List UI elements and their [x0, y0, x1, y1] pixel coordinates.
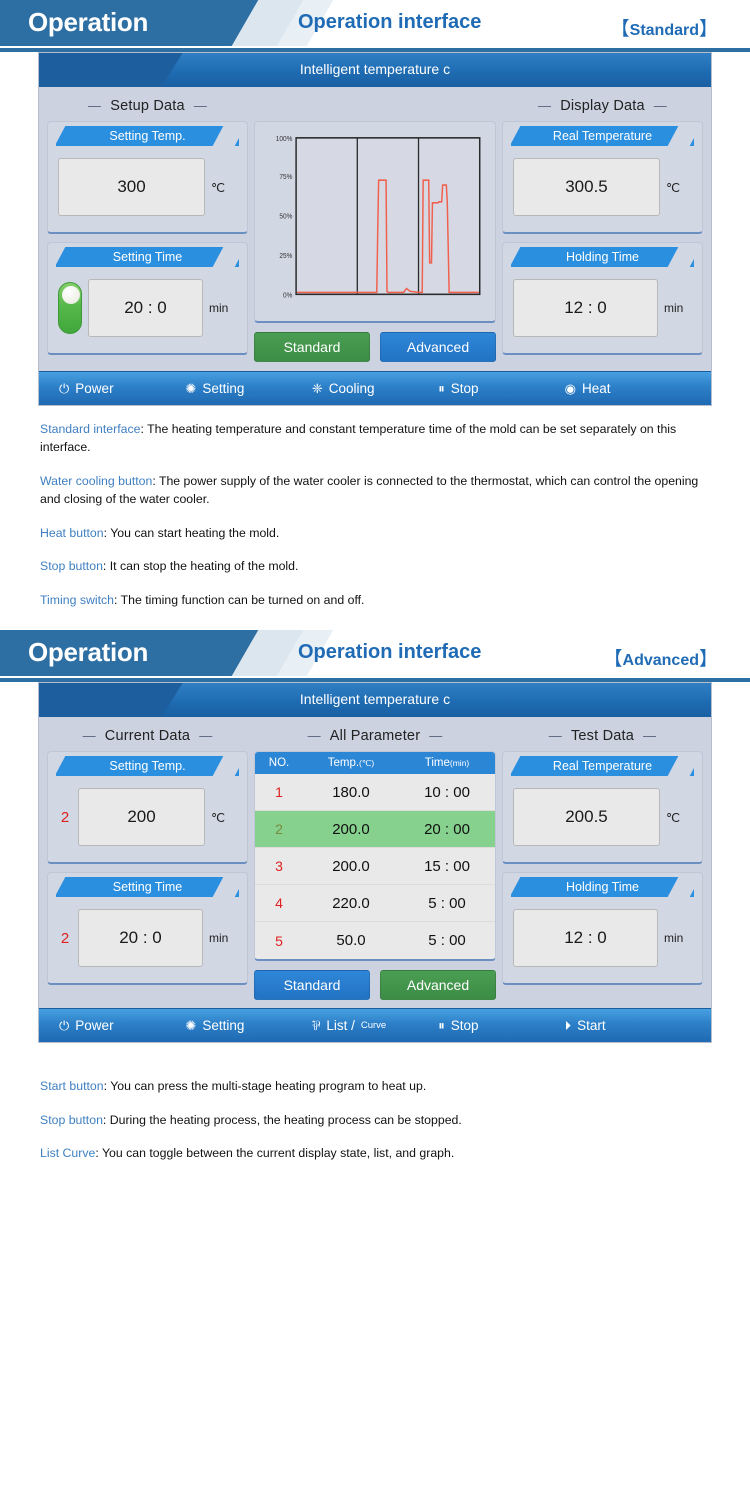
chart-svg: 100% 75% 50% 25% 0% — [259, 128, 489, 315]
real-temperature-label: Real Temperature — [511, 756, 694, 776]
setting-temp-row: 300 ℃ — [48, 146, 247, 220]
display-data-label: Display Data — [560, 98, 645, 114]
holding-time-value: 12 : 0 — [513, 909, 658, 967]
description-key: Stop button — [40, 1113, 103, 1127]
description-item: Standard interface: The heating temperat… — [40, 420, 710, 457]
dash-right: — — [645, 98, 676, 113]
description-key: List Curve — [40, 1146, 95, 1160]
table-row[interactable]: 4 220.0 5 : 00 — [255, 885, 495, 922]
setup-data-label: Setup Data — [110, 98, 185, 114]
setting-time-ribbon: Setting Time — [56, 877, 239, 897]
description-key: Timing switch — [40, 593, 114, 607]
all-parameter-heading: —All Parameter— — [254, 723, 496, 751]
power-icon: ⏻ — [59, 1019, 69, 1032]
description-item: Stop button: It can stop the heating of … — [40, 557, 710, 575]
toolbar-setting-label: Setting — [202, 381, 244, 396]
setting-time-label: Setting Time — [56, 247, 239, 267]
svg-text:25%: 25% — [279, 253, 292, 260]
row-temp: 200.0 — [303, 821, 399, 838]
descriptions-standard: Standard interface: The heating temperat… — [0, 406, 750, 630]
gear-icon: ✺ — [185, 382, 196, 395]
mode-button-row: Standard Advanced — [254, 323, 496, 362]
description-text: : During the heating process, the heatin… — [103, 1113, 462, 1127]
setting-time-row: 20 : 0 min — [48, 267, 247, 341]
setting-time-unit: min — [209, 931, 237, 945]
display-data-heading: —Display Data— — [502, 93, 703, 121]
dash-right: — — [190, 728, 221, 743]
holding-time-unit: min — [664, 301, 692, 315]
descriptions-advanced: Start button: You can press the multi-st… — [0, 1063, 750, 1183]
dash-left: — — [74, 728, 105, 743]
holding-time-card: Holding Time 12 : 0 min — [502, 242, 703, 355]
row-temp: 200.0 — [303, 858, 399, 875]
setting-temp-ribbon: Setting Temp. — [56, 126, 239, 146]
row-no: 3 — [255, 858, 303, 874]
device-toolbar-advanced: ⏻ Power ✺ Setting ⅌ List / Curve ⏸ Stop … — [39, 1008, 711, 1042]
setting-time-ribbon: Setting Time — [56, 247, 239, 267]
test-data-label: Test Data — [571, 728, 634, 744]
all-parameter-label: All Parameter — [330, 728, 420, 744]
banner-word: Operation — [28, 637, 148, 668]
toolbar-cooling-label: Cooling — [329, 381, 375, 396]
current-data-label: Current Data — [105, 728, 190, 744]
holding-time-row: 12 : 0 min — [503, 267, 702, 341]
chart-column: 100% 75% 50% 25% 0% — [254, 93, 496, 363]
setup-data-column: —Setup Data— Setting Temp. 300 ℃ Setting… — [47, 93, 248, 363]
description-key: Start button — [40, 1079, 104, 1093]
standard-mode-button[interactable]: Standard — [254, 332, 370, 362]
row-time: 5 : 00 — [399, 932, 495, 949]
table-row[interactable]: 3 200.0 15 : 00 — [255, 848, 495, 885]
device-title: Intelligent temperature c — [39, 691, 711, 707]
real-temperature-ribbon: Real Temperature — [511, 126, 694, 146]
toolbar-power-button[interactable]: ⏻ Power — [59, 1018, 185, 1033]
real-temperature-value: 200.5 — [513, 788, 660, 846]
column-header-temp: Temp.(℃) — [303, 757, 399, 769]
device-panel-standard: Intelligent temperature c —Setup Data— S… — [38, 52, 712, 406]
section-banner-standard: Operation Operation interface 【Standard】 — [0, 0, 750, 52]
toolbar-heat-label: Heat — [582, 381, 611, 396]
column-header-temp-text: Temp. — [328, 757, 359, 769]
setup-data-heading: —Setup Data— — [47, 93, 248, 121]
real-temperature-row: 300.5 ℃ — [503, 146, 702, 220]
svg-text:75%: 75% — [279, 174, 292, 181]
mode-tag: 【Standard】 — [611, 14, 718, 41]
toolbar-curve-label: Curve — [361, 1020, 386, 1031]
setting-temp-unit: ℃ — [211, 180, 237, 195]
device-title: Intelligent temperature c — [39, 61, 711, 77]
gear-icon: ✺ — [185, 1019, 196, 1032]
temperature-chart: 100% 75% 50% 25% 0% — [254, 121, 496, 323]
holding-time-label: Holding Time — [511, 247, 694, 267]
mode-tag-label: Standard — [630, 22, 699, 39]
column-header-no: NO. — [255, 757, 303, 769]
table-row[interactable]: 5 50.0 5 : 00 — [255, 922, 495, 959]
device-panel-advanced: Intelligent temperature c —Current Data—… — [38, 682, 712, 1043]
row-temp: 180.0 — [303, 784, 399, 801]
mode-tag: 【Advanced】 — [604, 644, 719, 671]
description-item: Heat button: You can start heating the m… — [40, 524, 710, 542]
toolbar-start-label: Start — [577, 1018, 606, 1033]
setting-time-card: Setting Time 2 20 : 0 min — [47, 872, 248, 985]
description-text: : You can start heating the mold. — [104, 526, 280, 540]
bracket-left: 【 — [604, 649, 623, 670]
row-time: 10 : 00 — [399, 784, 495, 801]
chart-y-axis-labels: 100% 75% 50% 25% 0% — [276, 136, 293, 300]
real-temperature-unit: ℃ — [666, 810, 692, 825]
setting-temp-stage-index: 2 — [58, 809, 72, 826]
chart-spacer-heading — [254, 93, 496, 121]
row-time: 20 : 00 — [399, 821, 495, 838]
holding-time-row: 12 : 0 min — [503, 897, 702, 971]
heat-icon: ◉ — [565, 382, 576, 395]
device-body: —Current Data— Setting Temp. 2 200 ℃ Set… — [39, 717, 711, 1008]
row-temp: 220.0 — [303, 895, 399, 912]
toolbar-heat-button[interactable]: ◉ Heat — [565, 381, 691, 396]
real-temperature-ribbon: Real Temperature — [511, 756, 694, 776]
current-data-column: —Current Data— Setting Temp. 2 200 ℃ Set… — [47, 723, 248, 1000]
description-key: Heat button — [40, 526, 104, 540]
holding-time-label: Holding Time — [511, 877, 694, 897]
toolbar-power-button[interactable]: ⏻ Power — [59, 381, 185, 396]
spacer — [0, 1043, 750, 1063]
mode-tag-label: Advanced — [623, 652, 699, 669]
row-no: 5 — [255, 933, 303, 949]
description-item: Timing switch: The timing function can b… — [40, 591, 710, 609]
description-item: Stop button: During the heating process,… — [40, 1111, 710, 1129]
table-row[interactable]: 1 180.0 10 : 00 — [255, 774, 495, 811]
toolbar-stop-label: Stop — [451, 1018, 479, 1033]
device-titlebar: Intelligent temperature c — [39, 53, 711, 87]
toolbar-stop-label: Stop — [451, 381, 479, 396]
row-no: 1 — [255, 784, 303, 800]
real-temperature-label: Real Temperature — [511, 126, 694, 146]
description-key: Standard interface — [40, 422, 141, 436]
stop-icon: ⏸ — [438, 382, 445, 395]
row-time: 5 : 00 — [399, 895, 495, 912]
power-icon: ⏻ — [59, 382, 69, 395]
toolbar-power-label: Power — [75, 1018, 113, 1033]
setting-temp-label: Setting Temp. — [56, 126, 239, 146]
holding-time-card: Holding Time 12 : 0 min — [502, 872, 703, 985]
setting-temp-value[interactable]: 200 — [78, 788, 205, 846]
dash-right: — — [634, 728, 665, 743]
banner-word: Operation — [28, 7, 148, 38]
description-key: Stop button — [40, 559, 103, 573]
real-temperature-value: 300.5 — [513, 158, 660, 216]
bracket-right: 】 — [699, 19, 718, 40]
real-temperature-unit: ℃ — [666, 180, 692, 195]
toolbar-cooling-button[interactable]: ❈ Cooling — [312, 381, 438, 396]
setting-temp-row: 2 200 ℃ — [48, 776, 247, 850]
test-data-heading: —Test Data— — [502, 723, 703, 751]
setting-temp-label: Setting Temp. — [56, 756, 239, 776]
svg-text:0%: 0% — [283, 292, 292, 299]
description-item: List Curve: You can toggle between the c… — [40, 1144, 710, 1162]
toolbar-setting-button[interactable]: ✺ Setting — [185, 1018, 311, 1033]
toolbar-stop-button[interactable]: ⏸ Stop — [438, 381, 564, 396]
dash-right: — — [420, 728, 451, 743]
fan-icon: ❈ — [312, 382, 323, 395]
description-text: : It can stop the heating of the mold. — [103, 559, 299, 573]
description-item: Start button: You can press the multi-st… — [40, 1077, 710, 1095]
setting-temp-card: Setting Temp. 2 200 ℃ — [47, 751, 248, 864]
advanced-mode-button[interactable]: Advanced — [380, 332, 496, 362]
page-title: Operation interface — [298, 11, 481, 34]
description-text: : You can press the multi-stage heating … — [104, 1079, 427, 1093]
toolbar-setting-button[interactable]: ✺ Setting — [185, 381, 311, 396]
timing-switch-toggle[interactable] — [58, 282, 82, 334]
chart-plot-area — [296, 138, 480, 294]
toolbar-stop-button[interactable]: ⏸ Stop — [438, 1018, 564, 1033]
standard-mode-button[interactable]: Standard — [254, 970, 370, 1000]
toolbar-setting-label: Setting — [202, 1018, 244, 1033]
column-header-temp-unit: (℃) — [359, 758, 374, 768]
setting-time-unit: min — [209, 301, 237, 315]
all-parameter-column: —All Parameter— NO. Temp.(℃) Time(min) 1… — [254, 723, 496, 1000]
setting-time-row: 2 20 : 0 min — [48, 897, 247, 971]
real-temperature-row: 200.5 ℃ — [503, 776, 702, 850]
test-data-column: —Test Data— Real Temperature 200.5 ℃ Hol… — [502, 723, 703, 1000]
setting-time-card: Setting Time 20 : 0 min — [47, 242, 248, 355]
row-temp: 50.0 — [303, 932, 399, 949]
setting-time-value[interactable]: 20 : 0 — [78, 909, 203, 967]
column-header-time-text: Time — [425, 757, 450, 769]
toolbar-list-curve-button[interactable]: ⅌ List / Curve — [312, 1018, 438, 1033]
bracket-left: 【 — [611, 19, 630, 40]
column-header-time-unit: (min) — [450, 758, 469, 768]
row-time: 15 : 00 — [399, 858, 495, 875]
row-no: 4 — [255, 895, 303, 911]
dash-left: — — [529, 98, 560, 113]
bracket-right: 】 — [699, 649, 718, 670]
page-title: Operation interface — [298, 641, 481, 664]
toolbar-power-label: Power — [75, 381, 113, 396]
device-body: —Setup Data— Setting Temp. 300 ℃ Setting… — [39, 87, 711, 371]
stop-icon: ⏸ — [438, 1019, 445, 1032]
setting-time-value[interactable]: 20 : 0 — [88, 279, 203, 337]
real-temperature-card: Real Temperature 200.5 ℃ — [502, 751, 703, 864]
svg-text:50%: 50% — [279, 213, 292, 220]
parameter-table-header: NO. Temp.(℃) Time(min) — [255, 752, 495, 774]
holding-time-ribbon: Holding Time — [511, 247, 694, 267]
dash-left: — — [299, 728, 330, 743]
dash-left: — — [540, 728, 571, 743]
toolbar-list-label: List / — [326, 1018, 355, 1033]
description-text: : You can toggle between the current dis… — [95, 1146, 454, 1160]
holding-time-value: 12 : 0 — [513, 279, 658, 337]
dash-right: — — [185, 98, 216, 113]
toolbar-start-button[interactable]: ⏵ Start — [565, 1018, 691, 1033]
description-key: Water cooling button — [40, 474, 152, 488]
mode-button-row: Standard Advanced — [254, 961, 496, 1000]
setting-temp-card: Setting Temp. 300 ℃ — [47, 121, 248, 234]
device-toolbar-standard: ⏻ Power ✺ Setting ❈ Cooling ⏸ Stop ◉ Hea… — [39, 371, 711, 405]
setting-temp-value[interactable]: 300 — [58, 158, 205, 216]
table-row[interactable]: 2 200.0 20 : 00 — [255, 811, 495, 848]
description-item: Water cooling button: The power supply o… — [40, 472, 710, 509]
setting-time-stage-index: 2 — [58, 930, 72, 947]
list-curve-icon: ⅌ — [312, 1019, 321, 1032]
holding-time-ribbon: Holding Time — [511, 877, 694, 897]
column-header-time: Time(min) — [399, 757, 495, 769]
row-no: 2 — [255, 821, 303, 837]
current-data-heading: —Current Data— — [47, 723, 248, 751]
advanced-mode-button[interactable]: Advanced — [380, 970, 496, 1000]
display-data-column: —Display Data— Real Temperature 300.5 ℃ … — [502, 93, 703, 363]
dash-left: — — [79, 98, 110, 113]
parameter-table: NO. Temp.(℃) Time(min) 1 180.0 10 : 00 2… — [254, 751, 496, 961]
setting-time-label: Setting Time — [56, 877, 239, 897]
toggle-knob — [62, 286, 80, 304]
real-temperature-card: Real Temperature 300.5 ℃ — [502, 121, 703, 234]
holding-time-unit: min — [664, 931, 692, 945]
section-banner-advanced: Operation Operation interface 【Advanced】 — [0, 630, 750, 682]
svg-text:100%: 100% — [276, 136, 293, 143]
setting-temp-ribbon: Setting Temp. — [56, 756, 239, 776]
device-titlebar: Intelligent temperature c — [39, 683, 711, 717]
setting-temp-unit: ℃ — [211, 810, 237, 825]
description-text: : The timing function can be turned on a… — [114, 593, 364, 607]
start-icon: ⏵ — [565, 1019, 572, 1032]
